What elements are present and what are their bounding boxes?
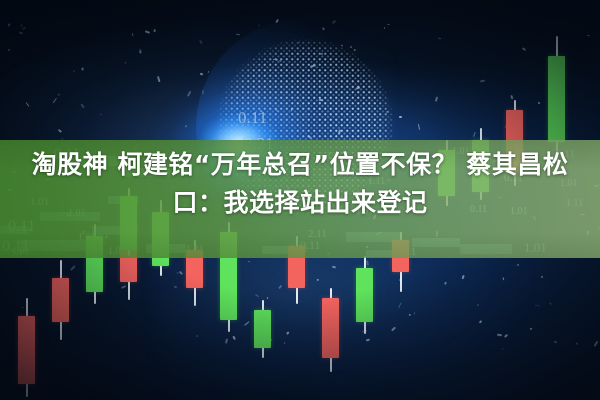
news-thumbnail-banner: 0.111.010.110.111.011.011.010.110.212.11… [0,0,600,400]
headline: 淘股神 柯建铭“万年总召”位置不保？ 蔡其昌松 口：我选择站出来登记 [0,146,600,222]
headline-line-1: 淘股神 柯建铭“万年总召”位置不保？ 蔡其昌松 [8,146,592,184]
headline-line-2: 口：我选择站出来登记 [8,184,592,222]
